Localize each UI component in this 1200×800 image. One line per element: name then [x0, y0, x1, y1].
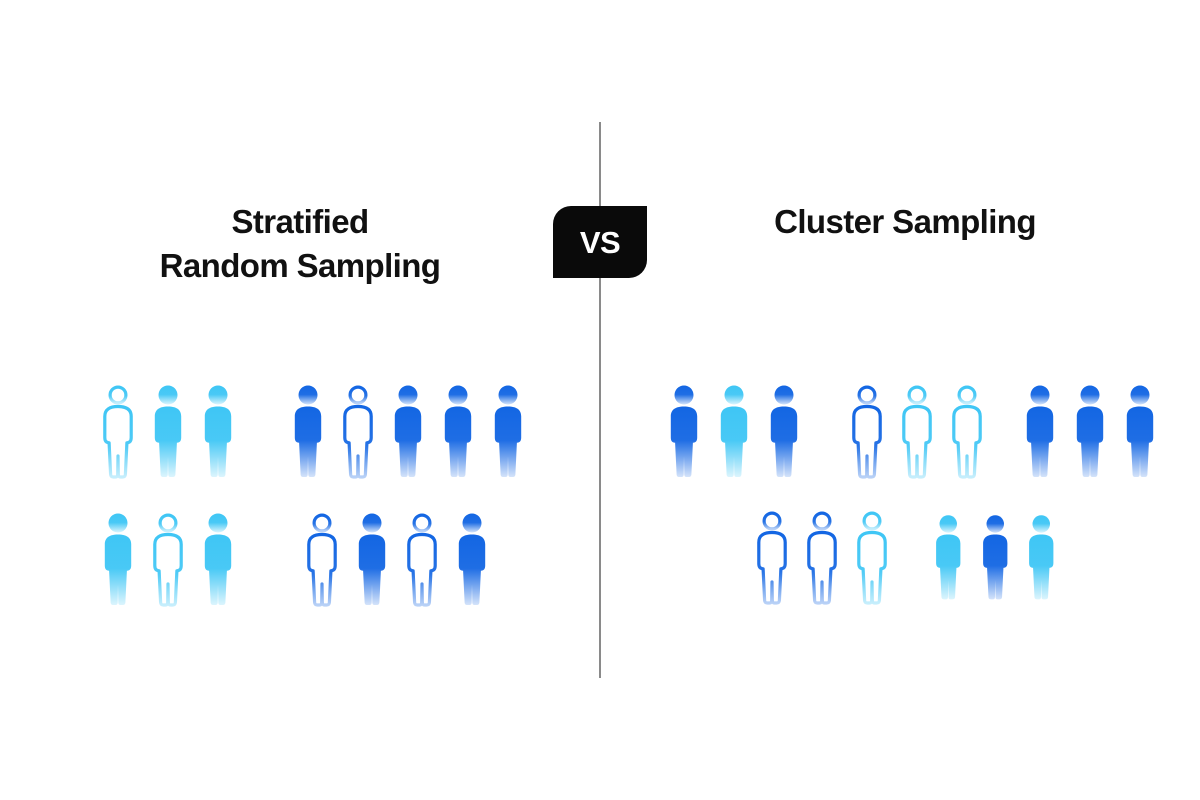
- person-icon: [750, 508, 794, 604]
- person-icon: [895, 382, 939, 478]
- person-icon: [486, 382, 530, 478]
- figure-group: [845, 382, 989, 478]
- person-icon: [300, 510, 344, 606]
- person-icon: [436, 382, 480, 478]
- person-icon: [336, 382, 380, 478]
- person-icon: [1068, 382, 1112, 478]
- person-icon: [850, 508, 894, 604]
- person-icon: [386, 382, 430, 478]
- person-icon: [196, 382, 240, 478]
- vs-badge-label: VS: [580, 227, 620, 258]
- person-icon: [400, 510, 444, 606]
- figure-group: [750, 508, 894, 604]
- figure-group: [1018, 382, 1162, 478]
- person-icon: [196, 510, 240, 606]
- person-icon: [945, 382, 989, 478]
- figure-group: [96, 510, 240, 606]
- person-icon: [350, 510, 394, 606]
- person-icon: [286, 382, 330, 478]
- figure-group: [286, 382, 530, 478]
- person-icon: [96, 510, 140, 606]
- person-icon: [762, 382, 806, 478]
- person-icon: [975, 512, 1016, 600]
- person-icon: [845, 382, 889, 478]
- person-icon: [800, 508, 844, 604]
- right-panel-title: Cluster Sampling: [650, 200, 1160, 244]
- vs-badge: VS: [553, 206, 647, 278]
- person-icon: [146, 382, 190, 478]
- person-icon: [1021, 512, 1062, 600]
- person-icon: [662, 382, 706, 478]
- person-icon: [146, 510, 190, 606]
- figure-group: [928, 512, 1062, 600]
- person-icon: [1118, 382, 1162, 478]
- figure-group: [300, 510, 494, 606]
- person-icon: [712, 382, 756, 478]
- figure-group: [662, 382, 806, 478]
- person-icon: [450, 510, 494, 606]
- person-icon: [928, 512, 969, 600]
- person-icon: [96, 382, 140, 478]
- left-panel-title: Stratified Random Sampling: [40, 200, 560, 287]
- infographic-canvas: VS Stratified Random Sampling Cluster Sa…: [0, 0, 1200, 800]
- figure-group: [96, 382, 240, 478]
- person-icon: [1018, 382, 1062, 478]
